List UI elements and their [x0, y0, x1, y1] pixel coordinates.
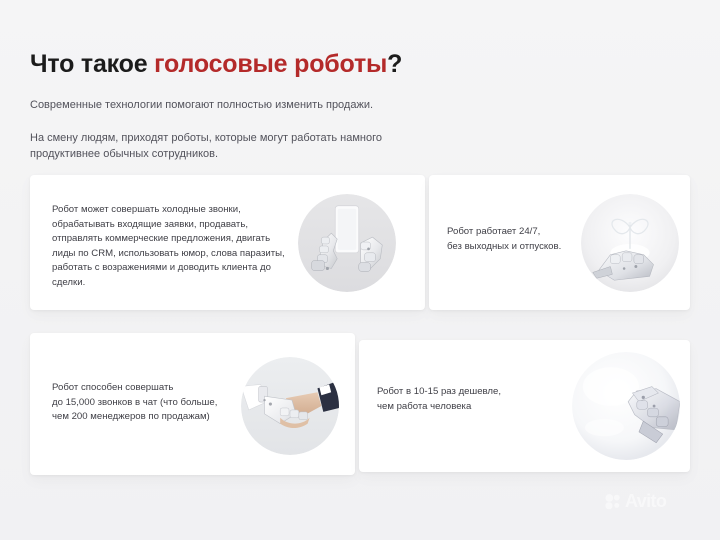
avito-dots-icon [604, 493, 621, 510]
robot-hand-holding-sprout-photo [581, 194, 679, 292]
feature-card-call-volume: Робот способен совершать до 15,000 звонк… [30, 333, 355, 475]
feature-card-cold-calls: Робот может совершать холодные звонки, о… [30, 175, 425, 310]
avito-watermark-label: Avito [625, 492, 666, 510]
avito-watermark: Avito [604, 492, 666, 510]
page-title-part-3: ? [387, 50, 402, 78]
card-text: Робот способен совершать до 15,000 звонк… [52, 381, 267, 425]
page-title-part-1: Что такое [30, 50, 154, 78]
robot-hand-holding-phone-photo [298, 194, 396, 292]
card-text: Робот в 10-15 раз дешевле, чем работа че… [377, 385, 567, 414]
page-title: Что такое голосовые роботы? [30, 50, 402, 79]
intro-paragraph-2: На смену людям, приходят роботы, которые… [30, 131, 450, 163]
card-text: Робот может совершать холодные звонки, о… [52, 203, 292, 290]
page-title-accent: голосовые роботы [154, 50, 387, 78]
feature-card-cheaper: Робот в 10-15 раз дешевле, чем работа че… [359, 340, 690, 472]
feature-card-24-7: Робот работает 24/7, без выходных и отпу… [429, 175, 690, 310]
intro-paragraph-1: Современные технологии помогают полность… [30, 98, 373, 114]
presentation-slide: Что такое голосовые роботы? Современные … [0, 0, 720, 540]
robot-hand-touching-sphere-photo [572, 352, 680, 460]
robot-human-handshake-photo [241, 357, 339, 455]
